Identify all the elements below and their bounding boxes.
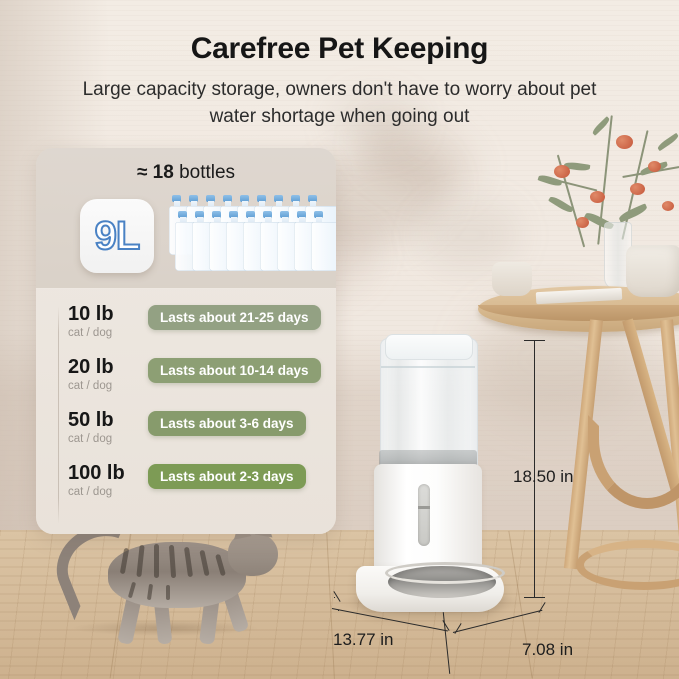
weight-label-group: 20 lbcat / dog (68, 356, 148, 394)
duration-badge: Lasts about 2-3 days (148, 464, 306, 489)
weight-value: 10 lb (68, 303, 148, 325)
pet-type-label: cat / dog (68, 325, 148, 341)
water-bottle-icon (294, 211, 309, 271)
pet-water-dispenser (352, 338, 504, 613)
water-level-line (381, 366, 475, 368)
product-infographic: ≈ 18 bottles 9L 10 lbcat / dogLasts abou… (0, 0, 679, 679)
dispenser-slot (418, 484, 430, 546)
height-dimension-label: 18.50 in (513, 467, 574, 487)
bottles-label: bottles (179, 162, 235, 183)
pet-type-label: cat / dog (68, 484, 148, 500)
ceramic-pot-small (492, 262, 532, 296)
weight-value: 50 lb (68, 409, 148, 431)
water-bottle-icon (277, 211, 292, 271)
weight-label-group: 50 lbcat / dog (68, 409, 148, 447)
floor-seam (326, 530, 335, 679)
pet-type-label: cat / dog (68, 431, 148, 447)
water-bottle-icon (243, 211, 258, 271)
dimension-tick (524, 340, 545, 341)
water-bottle-icon (175, 211, 190, 271)
page-title: Carefree Pet Keeping (0, 32, 679, 66)
weight-duration-row: 100 lbcat / dogLasts about 2-3 days (36, 459, 336, 512)
duration-badge: Lasts about 10-14 days (148, 358, 321, 383)
weight-label-group: 100 lbcat / dog (68, 462, 148, 500)
water-bottle-icon (260, 211, 275, 271)
dimension-tick (524, 597, 545, 598)
depth-dimension-label: 13.77 in (333, 630, 394, 650)
bottles-heading: ≈ 18 bottles (36, 162, 336, 184)
weight-label-group: 10 lbcat / dog (68, 303, 148, 341)
bottles-count: ≈ 18 (137, 162, 174, 183)
wall-shadow (420, 200, 520, 270)
weight-value: 20 lb (68, 356, 148, 378)
water-bottle-icon (209, 211, 224, 271)
tank-lid (385, 334, 473, 360)
weight-duration-row: 20 lbcat / dogLasts about 10-14 days (36, 353, 336, 406)
water-bottle-icon (192, 211, 207, 271)
capacity-badge-tile: 9L (80, 199, 154, 273)
slot-marker (418, 506, 430, 509)
water-bottle-icon (311, 211, 326, 271)
pet-type-label: cat / dog (68, 378, 148, 394)
page-subtitle: Large capacity storage, owners don't hav… (60, 76, 619, 130)
cat-body (108, 542, 246, 608)
capacity-badge-value: 9L (95, 214, 140, 259)
weight-value: 100 lb (68, 462, 148, 484)
bottle-illustration (169, 195, 329, 277)
ceramic-pot (626, 245, 679, 297)
capacity-info-card: ≈ 18 bottles 9L 10 lbcat / dogLasts abou… (36, 148, 336, 534)
weight-duration-list: 10 lbcat / dogLasts about 21-25 days20 l… (36, 300, 336, 512)
duration-badge: Lasts about 21-25 days (148, 305, 321, 330)
weight-duration-row: 50 lbcat / dogLasts about 3-6 days (36, 406, 336, 459)
weight-duration-row: 10 lbcat / dogLasts about 21-25 days (36, 300, 336, 353)
water-bottle-icon (226, 211, 241, 271)
tabby-cat (52, 520, 302, 650)
bottle-row (175, 211, 335, 273)
duration-badge: Lasts about 3-6 days (148, 411, 306, 436)
bowl-rim (385, 562, 505, 584)
width-dimension-label: 7.08 in (522, 640, 573, 660)
